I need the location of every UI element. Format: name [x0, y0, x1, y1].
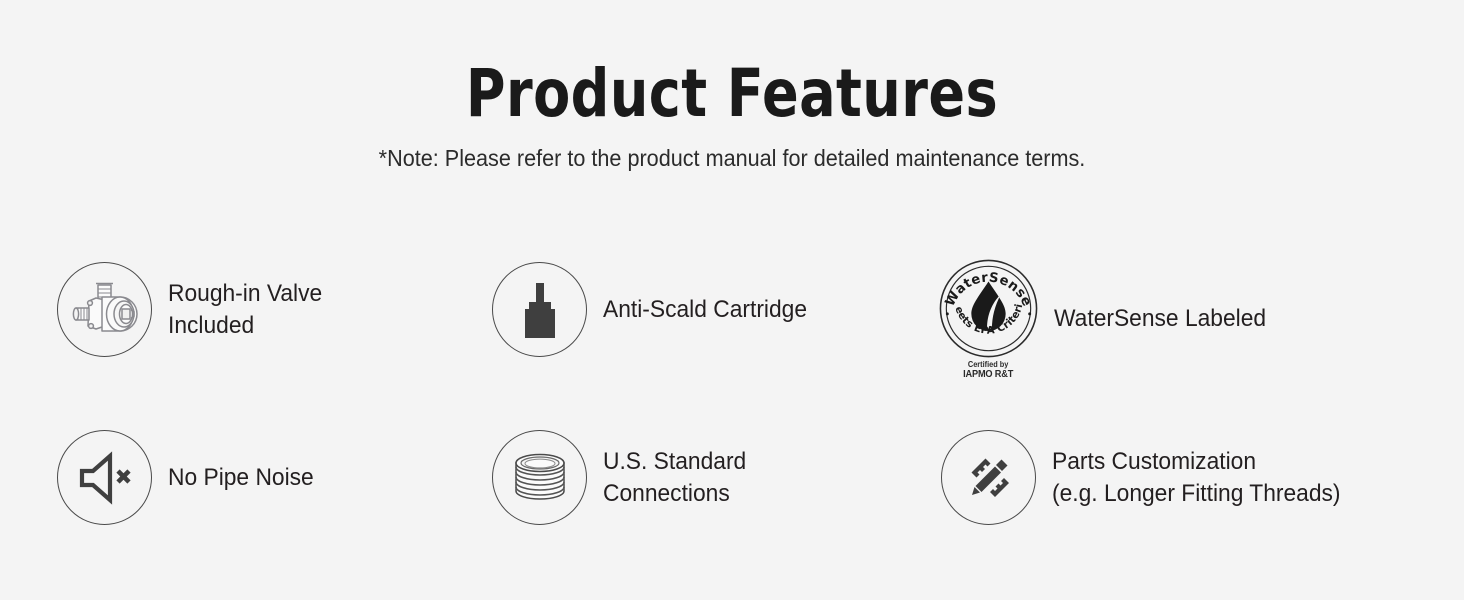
icon-circle — [57, 262, 152, 357]
icon-circle — [941, 430, 1036, 525]
watersense-badge: WaterSense Meets EPA Criteria Certified … — [937, 258, 1040, 380]
feature-label: Parts Customization (e.g. Longer Fitting… — [1052, 446, 1341, 510]
feature-label-line1: Parts Customization — [1052, 448, 1256, 475]
rough-in-valve-icon — [69, 279, 141, 341]
feature-label: Anti-Scald Cartridge — [603, 294, 807, 326]
feature-label-line1: U.S. Standard — [603, 448, 746, 475]
note-text: *Note: Please refer to the product manua… — [44, 144, 1420, 172]
watersense-seal-icon: WaterSense Meets EPA Criteria — [937, 258, 1040, 359]
product-features-graphic: Product Features *Note: Please refer to … — [0, 0, 1464, 600]
feature-label-line1: WaterSense Labeled — [1054, 305, 1266, 332]
feature-label-line1: Rough-in Valve — [168, 280, 322, 307]
icon-circle — [57, 430, 152, 525]
cartridge-icon — [513, 279, 567, 341]
feature-label: Rough-in Valve Included — [168, 278, 322, 342]
muted-speaker-icon — [74, 450, 136, 506]
feature-us-standard-connections: U.S. Standard Connections — [492, 430, 754, 525]
icon-circle — [492, 262, 587, 357]
feature-label: No Pipe Noise — [168, 462, 314, 494]
feature-label-line2: Included — [168, 310, 322, 342]
watersense-caption: Certified by IAPMO R&T — [964, 360, 1014, 380]
header: Product Features *Note: Please refer to … — [0, 58, 1464, 172]
page-title: Product Features — [132, 58, 1332, 130]
icon-circle — [492, 430, 587, 525]
feature-anti-scald-cartridge: Anti-Scald Cartridge — [492, 262, 818, 357]
threaded-fitting-icon — [508, 449, 572, 507]
feature-rough-in-valve: Rough-in Valve Included — [57, 262, 330, 357]
feature-parts-customization: Parts Customization (e.g. Longer Fitting… — [941, 430, 1356, 525]
watersense-caption-line2: IAPMO R&T — [964, 370, 1014, 380]
feature-grid: Rough-in Valve Included Anti-Scald Cartr… — [0, 246, 1464, 566]
feature-watersense-labeled: WaterSense Meets EPA Criteria Certified … — [937, 258, 1277, 380]
feature-label: WaterSense Labeled — [1054, 303, 1266, 335]
feature-label: U.S. Standard Connections — [603, 446, 746, 510]
feature-label-line1: Anti-Scald Cartridge — [603, 296, 807, 323]
feature-label-line2: Connections — [603, 478, 746, 510]
pencil-ruler-icon — [960, 449, 1018, 507]
feature-no-pipe-noise: No Pipe Noise — [57, 430, 321, 525]
feature-label-line1: No Pipe Noise — [168, 464, 314, 491]
feature-label-line2: (e.g. Longer Fitting Threads) — [1052, 478, 1341, 510]
